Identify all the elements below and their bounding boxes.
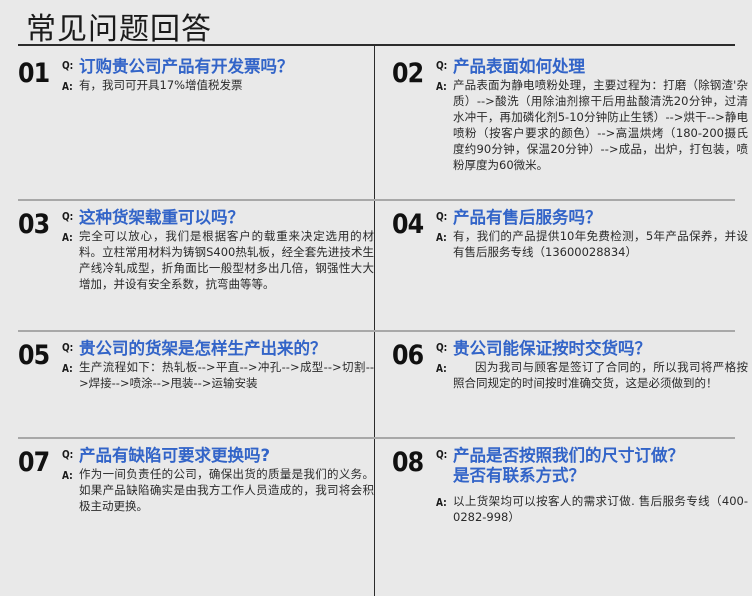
faq-question: 产品有缺陷可要求更换吗?: [79, 446, 374, 466]
column-divider: [374, 45, 375, 596]
faq-question-line1: 产品是否按照我们的尺寸订做？: [453, 446, 684, 465]
faq-item-02: 02 Q: 产品表面如何处理 A: 产品表面为静电喷粉处理，主要过程为：打磨（除…: [392, 57, 748, 173]
answer-tag: A:: [436, 77, 449, 93]
question-tag: Q:: [62, 446, 75, 461]
row-divider-2: [18, 330, 735, 332]
faq-number: 02: [392, 57, 429, 88]
faq-answer: 有，我们的产品提供10年免费检测，5年产品保养，并设有售后服务专线（136000…: [453, 228, 748, 260]
faq-page: 常见问题回答 01 Q: 订购贵公司产品有开发票吗？ A: 有，我司可开具17%…: [0, 0, 752, 596]
answer-tag: A:: [436, 228, 449, 244]
row-divider-1: [18, 199, 735, 201]
answer-tag: A:: [62, 359, 75, 375]
question-tag: Q:: [62, 57, 75, 72]
question-tag: Q:: [62, 339, 75, 354]
faq-item-03: 03 Q: 这种货架载重可以吗？ A: 完全可以放心，我们是根据客户的载重来决定…: [18, 208, 374, 292]
faq-item-07: 07 Q: 产品有缺陷可要求更换吗? A: 作为一间负责任的公司，确保出货的质量…: [18, 446, 374, 514]
faq-number: 03: [18, 208, 55, 239]
faq-number: 04: [392, 208, 429, 239]
faq-answer: 有，我司可开具17%增值税发票: [79, 77, 374, 93]
faq-question: 贵公司能保证按时交货吗？: [453, 339, 748, 359]
faq-item-08: 08 Q: 产品是否按照我们的尺寸订做？ 是否有联系方式？ A: 以上货架均可以…: [392, 446, 748, 525]
answer-tag: A:: [62, 466, 75, 482]
faq-number: 08: [392, 446, 429, 477]
page-title: 常见问题回答: [26, 4, 212, 48]
faq-grid: 01 Q: 订购贵公司产品有开发票吗？ A: 有，我司可开具17%增值税发票 0…: [0, 45, 752, 596]
faq-number: 05: [18, 339, 55, 370]
faq-answer: 产品表面为静电喷粉处理，主要过程为：打磨（除钢渣'杂质）-->酸洗（用除油剂擦干…: [453, 77, 748, 173]
faq-answer: 作为一间负责任的公司，确保出货的质量是我们的义务。如果产品缺陷确实是由我方工作人…: [79, 466, 374, 514]
faq-item-01: 01 Q: 订购贵公司产品有开发票吗？ A: 有，我司可开具17%增值税发票: [18, 57, 374, 93]
faq-question: 贵公司的货架是怎样生产出来的？: [79, 339, 374, 359]
faq-answer: 因为我司与顾客是签订了合同的，所以我司将严格按照合同规定的时间按时准确交货，这是…: [453, 359, 748, 391]
faq-number: 01: [18, 57, 55, 88]
faq-question: 产品是否按照我们的尺寸订做？ 是否有联系方式？: [453, 446, 748, 486]
answer-tag: A:: [62, 228, 75, 244]
faq-item-06: 06 Q: 贵公司能保证按时交货吗？ A: 因为我司与顾客是签订了合同的，所以我…: [392, 339, 748, 391]
answer-tag: A:: [436, 359, 449, 375]
question-tag: Q:: [436, 446, 449, 461]
faq-question: 订购贵公司产品有开发票吗？: [79, 57, 374, 77]
row-divider-3: [18, 437, 735, 439]
faq-number: 06: [392, 339, 429, 370]
faq-question: 这种货架载重可以吗？: [79, 208, 374, 228]
question-tag: Q:: [62, 208, 75, 223]
faq-question: 产品表面如何处理: [453, 57, 748, 77]
faq-item-05: 05 Q: 贵公司的货架是怎样生产出来的？ A: 生产流程如下：热轧板-->平直…: [18, 339, 374, 391]
question-tag: Q:: [436, 57, 449, 72]
page-header: 常见问题回答: [0, 0, 752, 45]
answer-tag: A:: [436, 493, 449, 509]
question-tag: Q:: [436, 208, 449, 223]
faq-answer: 完全可以放心，我们是根据客户的载重来决定选用的材料。立柱常用材料为铸钢S400热…: [79, 228, 374, 292]
faq-answer: 生产流程如下：热轧板-->平直-->冲孔-->成型-->切割-->焊接-->喷涂…: [79, 359, 374, 391]
faq-item-04: 04 Q: 产品有售后服务吗？ A: 有，我们的产品提供10年免费检测，5年产品…: [392, 208, 748, 260]
faq-question: 产品有售后服务吗？: [453, 208, 748, 228]
question-tag: Q:: [436, 339, 449, 354]
faq-number: 07: [18, 446, 55, 477]
faq-answer: 以上货架均可以按客人的需求订做. 售后服务专线（400-0282-998）: [453, 493, 748, 525]
answer-tag: A:: [62, 77, 75, 93]
faq-question-line2: 是否有联系方式？: [453, 466, 748, 486]
